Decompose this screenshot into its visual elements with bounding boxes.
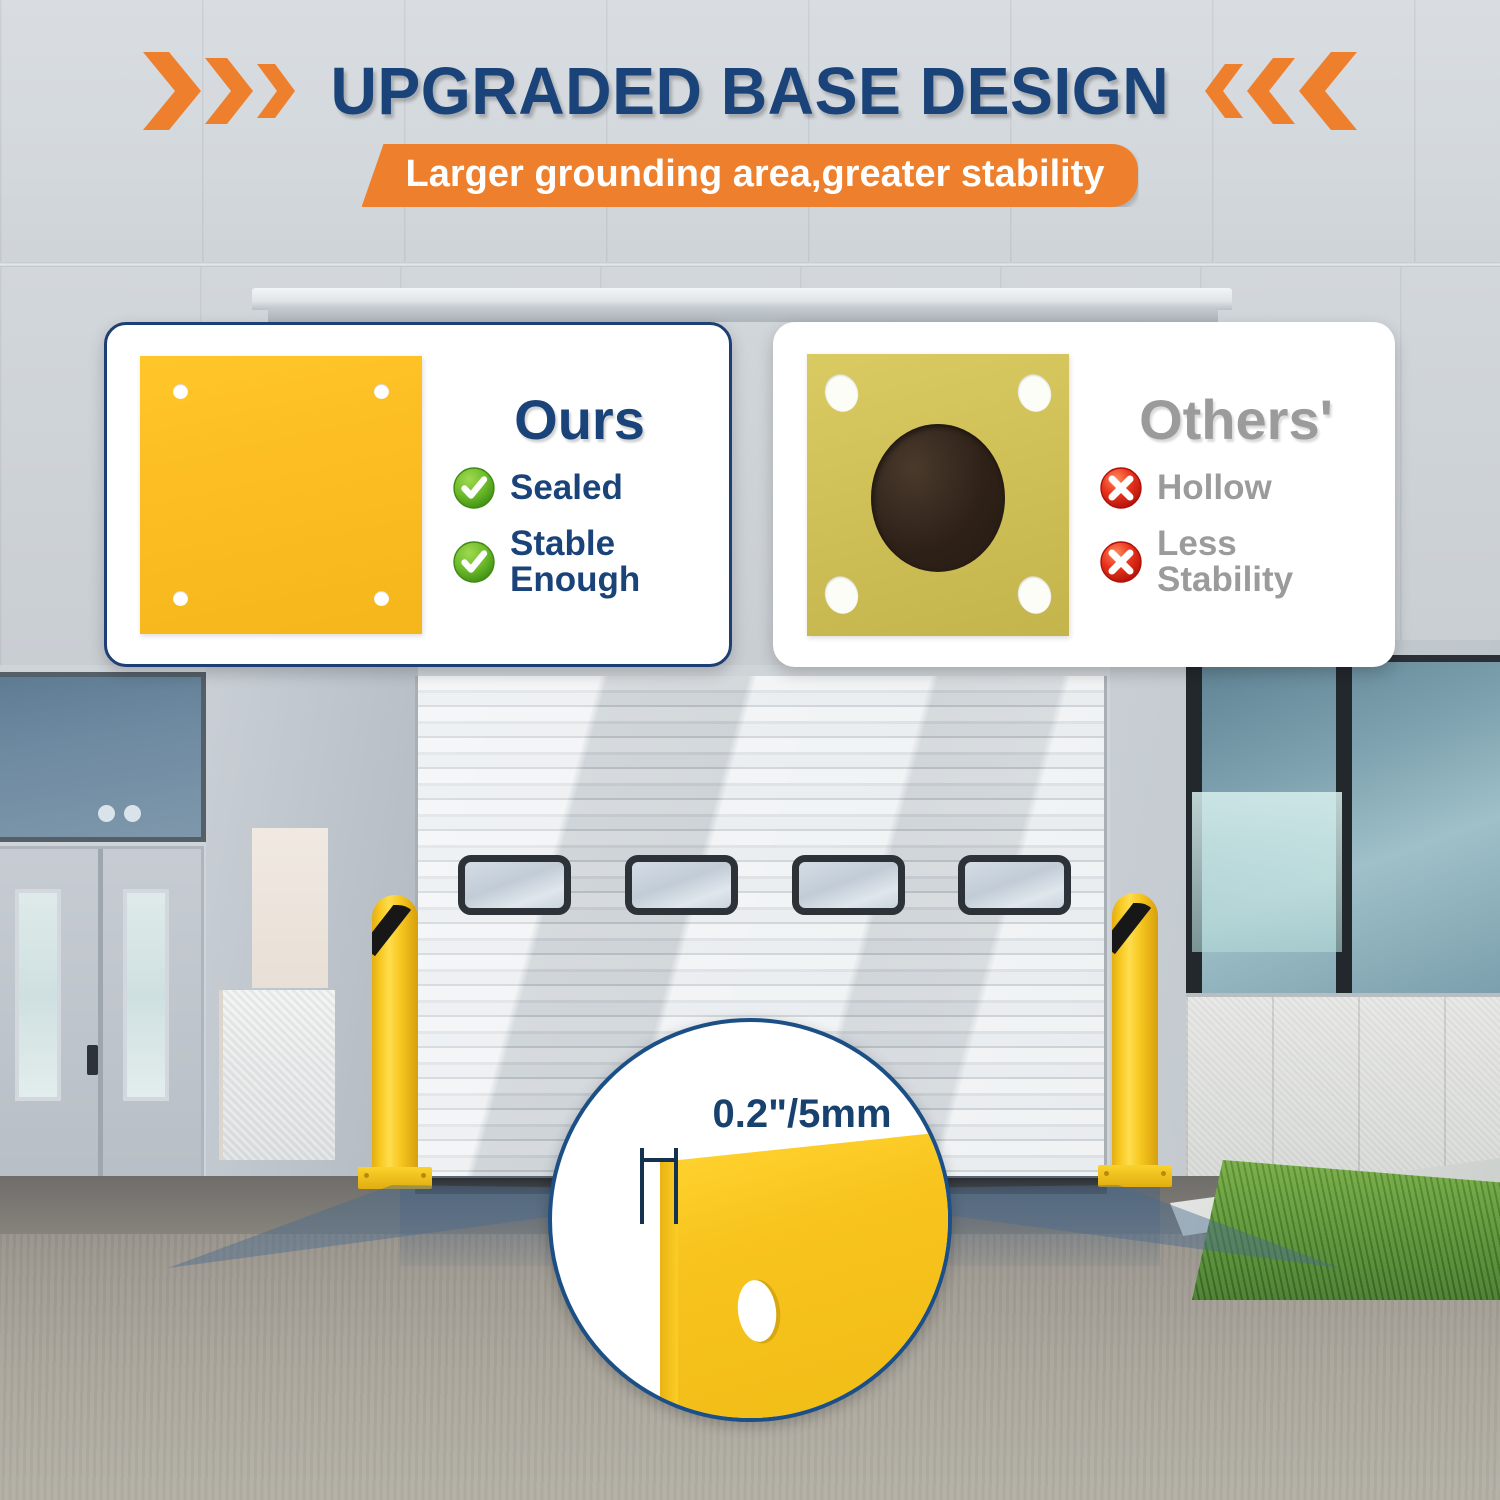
- x-circle-icon: [1099, 466, 1143, 510]
- bolt-hole: [173, 591, 188, 606]
- dimension-bracket-icon: [636, 1146, 706, 1226]
- others-feature-label: Less Stability: [1157, 526, 1293, 597]
- others-feature-label: Hollow: [1157, 470, 1272, 506]
- bolt-hole: [1013, 571, 1056, 617]
- check-circle-icon: [452, 466, 496, 510]
- others-heading: Others': [1091, 392, 1381, 448]
- check-circle-icon: [452, 540, 496, 584]
- others-feature-item: Less Stability: [1099, 526, 1381, 597]
- hazard-stripe-icon: [372, 905, 418, 967]
- comparison-card-others: Others' Hollow: [773, 322, 1395, 667]
- others-feature-item: Hollow: [1099, 466, 1381, 510]
- ours-feature-list: Sealed Stable Enough: [444, 466, 715, 597]
- pillar-textured-base: [219, 990, 335, 1160]
- lamp-icon: [124, 805, 141, 822]
- bolt-hole: [173, 384, 188, 399]
- comparison-card-ours: Ours Sealed: [104, 322, 732, 667]
- door-glass-panel: [15, 889, 61, 1101]
- page-title: UPGRADED BASE DESIGN: [331, 53, 1170, 130]
- chevrons-left-icon: [1205, 52, 1357, 130]
- others-plate-image: [773, 354, 1069, 636]
- ours-feature-label: Stable Enough: [510, 526, 640, 597]
- hollow-base-plate: [807, 354, 1069, 636]
- bolt-hole: [1013, 369, 1056, 415]
- roller-door-window: [958, 855, 1071, 915]
- bolt-hole: [820, 571, 863, 617]
- solid-base-plate: [140, 356, 422, 634]
- ours-heading: Ours: [444, 392, 715, 448]
- x-circle-icon: [1099, 540, 1143, 584]
- facade-upper-window: [0, 672, 206, 842]
- entrance-double-doors: [0, 846, 204, 1198]
- bollard-base-plate: [1098, 1165, 1172, 1187]
- header-block: UPGRADED BASE DESIGN Larger grounding ar…: [0, 52, 1500, 207]
- roller-door-window: [792, 855, 905, 915]
- subtitle-banner: Larger grounding area,greater stability: [362, 144, 1139, 207]
- ours-text-block: Ours Sealed: [422, 392, 729, 597]
- others-feature-list: Hollow Less Stability: [1091, 466, 1381, 597]
- bollard-base-plate: [358, 1167, 432, 1189]
- roller-door-window: [458, 855, 571, 915]
- thickness-label: 0.2"/5mm: [662, 1092, 942, 1137]
- wall-seam: [0, 262, 1500, 267]
- door-handle-icon: [87, 1045, 98, 1075]
- door-canopy: [252, 288, 1232, 310]
- others-text-block: Others' Hollow: [1069, 392, 1395, 597]
- ours-feature-label: Sealed: [510, 470, 623, 506]
- concrete-wall-base: [1186, 993, 1500, 1183]
- hazard-stripe-icon: [1112, 903, 1158, 965]
- thickness-magnifier-callout: 0.2"/5mm: [548, 1018, 952, 1422]
- glass-reflection: [1192, 792, 1342, 952]
- pillar-light-panel: [252, 828, 328, 988]
- chevrons-right-icon: [143, 52, 295, 130]
- door-canopy-underside: [268, 308, 1218, 322]
- right-facade-glass: [1186, 655, 1500, 995]
- bolt-hole: [374, 384, 389, 399]
- ours-plate-image: [107, 356, 422, 634]
- lamp-icon: [98, 805, 115, 822]
- door-glass-panel: [123, 889, 169, 1101]
- center-hollow-hole: [871, 423, 1005, 571]
- infographic-canvas: UPGRADED BASE DESIGN Larger grounding ar…: [0, 0, 1500, 1500]
- ours-feature-item: Stable Enough: [452, 526, 715, 597]
- grass-patch: [1192, 1160, 1500, 1300]
- ours-feature-item: Sealed: [452, 466, 715, 510]
- bolt-hole: [820, 369, 863, 415]
- roller-door-window: [625, 855, 738, 915]
- bolt-hole: [374, 591, 389, 606]
- door-divider: [98, 849, 103, 1201]
